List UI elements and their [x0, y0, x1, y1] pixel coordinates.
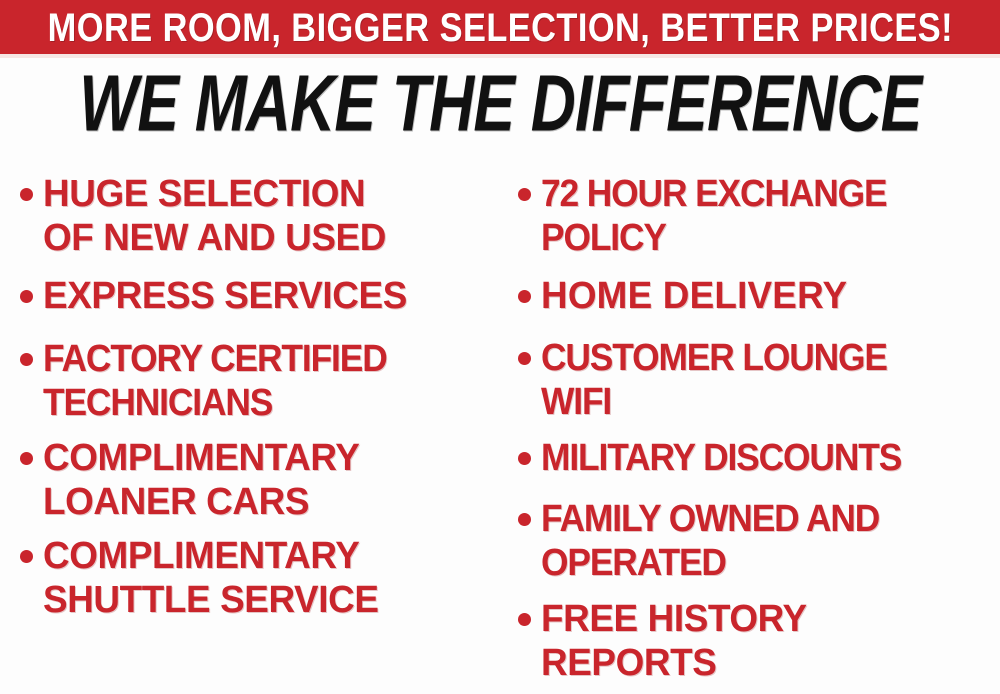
bullet-dot-icon	[20, 290, 33, 303]
headline-container: WE MAKE THE DIFFERENCE	[0, 66, 1000, 140]
list-item: HOME DELIVERY	[518, 274, 998, 318]
benefits-column-right: 72 HOUR EXCHANGE POLICY HOME DELIVERY CU…	[506, 150, 1000, 694]
bullet-dot-icon	[518, 352, 531, 365]
promo-banner-text: MORE ROOM, BIGGER SELECTION, BETTER PRIC…	[47, 8, 952, 48]
list-item: COMPLIMENTARY SHUTTLE SERVICE	[20, 534, 490, 622]
bullet-dot-icon	[20, 188, 33, 201]
benefits-column-left: HUGE SELECTION OF NEW AND USED EXPRESS S…	[8, 150, 500, 694]
bullet-dot-icon	[518, 290, 531, 303]
list-item-label: HUGE SELECTION OF NEW AND USED	[43, 172, 386, 260]
list-item: FAMILY OWNED AND OPERATED	[518, 497, 998, 585]
list-item: FACTORY CERTIFIED TECHNICIANS	[20, 337, 490, 425]
page-title: WE MAKE THE DIFFERENCE	[79, 63, 921, 143]
bullet-dot-icon	[518, 513, 531, 526]
list-item-label: EXPRESS SERVICES	[43, 274, 407, 318]
list-item: 72 HOUR EXCHANGE POLICY	[518, 172, 998, 260]
list-item-label: HOME DELIVERY	[541, 274, 847, 318]
list-item: EXPRESS SERVICES	[20, 274, 490, 318]
list-item-label: COMPLIMENTARY SHUTTLE SERVICE	[43, 534, 379, 622]
list-item: HUGE SELECTION OF NEW AND USED	[20, 172, 490, 260]
bullet-dot-icon	[20, 550, 33, 563]
list-item-label: 72 HOUR EXCHANGE POLICY	[541, 172, 886, 260]
advertisement-banner: MORE ROOM, BIGGER SELECTION, BETTER PRIC…	[0, 0, 1000, 694]
bullet-dot-icon	[518, 613, 531, 626]
list-item-label: FREE HISTORY REPORTS	[541, 597, 807, 685]
list-item: COMPLIMENTARY LOANER CARS	[20, 436, 490, 524]
bullet-dot-icon	[518, 452, 531, 465]
bullet-dot-icon	[20, 452, 33, 465]
list-item: CUSTOMER LOUNGE WIFI	[518, 336, 998, 424]
list-item-label: FAMILY OWNED AND OPERATED	[541, 497, 879, 585]
list-item: FREE HISTORY REPORTS	[518, 597, 998, 685]
benefits-columns: HUGE SELECTION OF NEW AND USED EXPRESS S…	[0, 150, 1000, 694]
list-item-label: CUSTOMER LOUNGE WIFI	[541, 336, 887, 424]
list-item-label: FACTORY CERTIFIED TECHNICIANS	[43, 337, 387, 425]
list-item-label: MILITARY DISCOUNTS	[541, 436, 901, 480]
list-item-label: COMPLIMENTARY LOANER CARS	[43, 436, 359, 524]
bullet-dot-icon	[518, 188, 531, 201]
list-item: MILITARY DISCOUNTS	[518, 436, 1000, 480]
top-promo-banner: MORE ROOM, BIGGER SELECTION, BETTER PRIC…	[0, 0, 1000, 56]
bullet-dot-icon	[20, 353, 33, 366]
